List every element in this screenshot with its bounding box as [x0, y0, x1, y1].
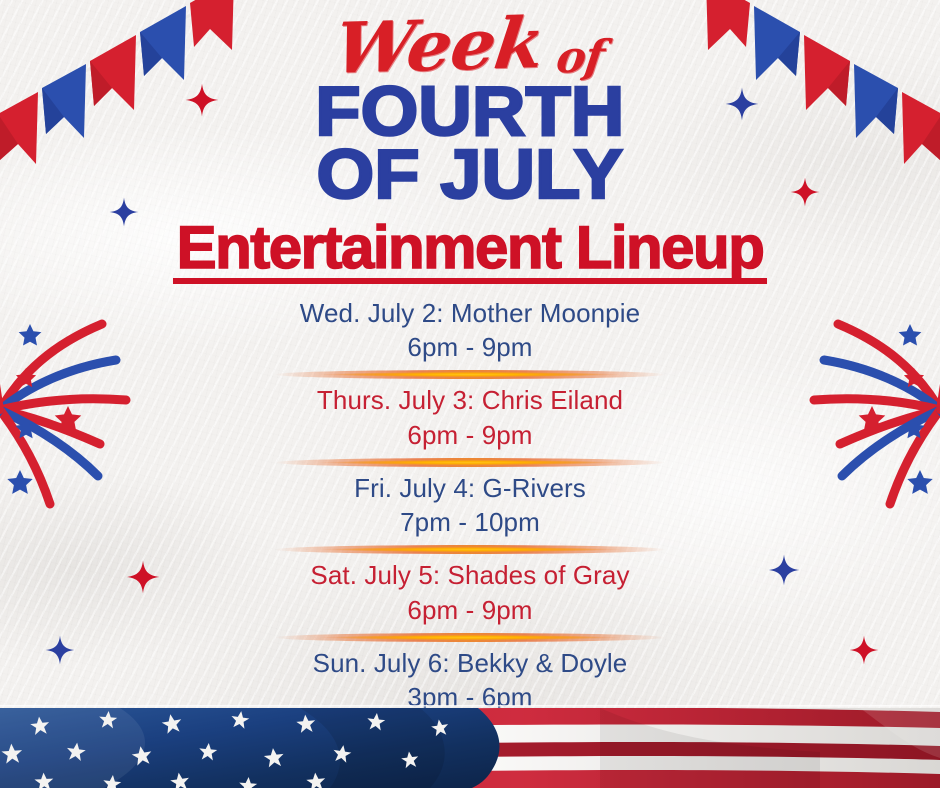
headline-line-2: OF JULY: [315, 145, 624, 204]
lineup-entry-time: 6pm - 9pm: [0, 593, 940, 627]
lineup-entry-band: Sun. July 6: Bekky & Doyle: [0, 646, 940, 680]
lineup-entry-band: Wed. July 2: Mother Moonpie: [0, 296, 940, 330]
lineup-entry-band: Sat. July 5: Shades of Gray: [0, 558, 940, 592]
poster-canvas: Weekof FOURTH OF JULY Entertainment Line…: [0, 0, 940, 788]
lineup-divider: [275, 633, 665, 642]
lineup-entry: Wed. July 2: Mother Moonpie6pm - 9pm: [0, 296, 940, 365]
lineup-list: Wed. July 2: Mother Moonpie6pm - 9pmThur…: [0, 296, 940, 715]
lineup-entry-time: 6pm - 9pm: [0, 418, 940, 452]
lineup-divider: [275, 458, 665, 467]
lineup-entry-time: 6pm - 9pm: [0, 330, 940, 364]
lineup-entry: Sat. July 5: Shades of Gray6pm - 9pm: [0, 558, 940, 627]
headline-fourth-of-july: FOURTH OF JULY: [324, 82, 616, 204]
lineup-entry-band: Fri. July 4: G-Rivers: [0, 471, 940, 505]
headline-line-1: FOURTH: [315, 82, 624, 141]
lineup-divider: [275, 370, 665, 379]
lineup-entry: Sun. July 6: Bekky & Doyle3pm - 6pm: [0, 646, 940, 715]
lineup-divider: [275, 545, 665, 554]
american-flag-banner: [0, 708, 940, 788]
page-title: Entertainment Lineup: [177, 218, 764, 282]
poster-content: Weekof FOURTH OF JULY Entertainment Line…: [0, 0, 940, 788]
lineup-entry-time: 7pm - 10pm: [0, 505, 940, 539]
lineup-entry: Fri. July 4: G-Rivers7pm - 10pm: [0, 471, 940, 540]
lineup-entry-band: Thurs. July 3: Chris Eiland: [0, 383, 940, 417]
lineup-entry: Thurs. July 3: Chris Eiland6pm - 9pm: [0, 383, 940, 452]
